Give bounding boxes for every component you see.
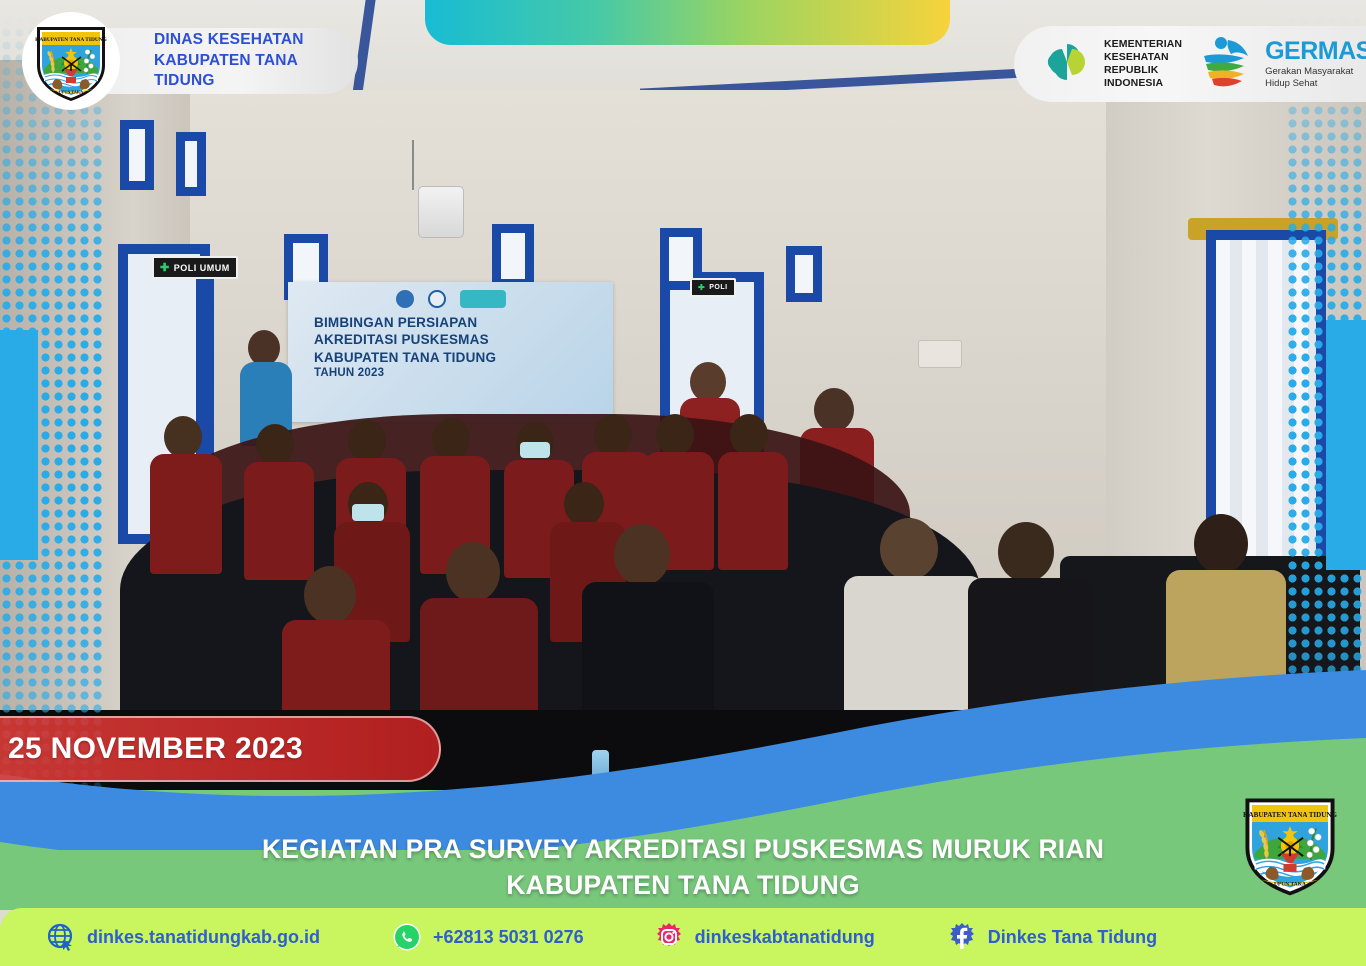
- halftone-solid-left: [0, 330, 38, 560]
- banner-line-3: KABUPATEN TANA TIDUNG: [314, 349, 613, 366]
- germas-figure-icon: [1198, 32, 1258, 97]
- room-sign-poli-umum: ✚ POLI UMUM: [152, 256, 238, 279]
- tana-tidung-coat-of-arms-icon: KABUPATEN TANA TIDUNG: [1236, 788, 1344, 898]
- headline: KEGIATAN PRA SURVEY AKREDITASI PUSKESMAS…: [0, 832, 1366, 904]
- banner-logo-icon: [428, 290, 446, 308]
- contact-footer: dinkes.tanatidungkab.go.id +62813 5031 0…: [0, 908, 1366, 966]
- kemenkes-line2: KESEHATAN: [1104, 51, 1182, 64]
- banner-logo-row: [288, 282, 613, 308]
- wall-window: [786, 246, 822, 302]
- facebook-icon: [947, 922, 977, 952]
- date-badge-label: 25 NOVEMBER 2023: [8, 732, 303, 766]
- kemenkes-line4: INDONESIA: [1104, 77, 1182, 90]
- banner-logo-icon: [396, 290, 414, 308]
- footer-instagram-text: dinkeskabtanatidung: [695, 927, 875, 948]
- room-sign-poli: ✚ POLI: [690, 278, 736, 297]
- germas-name: GERMAS: [1265, 39, 1366, 64]
- wall-wire: [412, 140, 414, 190]
- svg-text:KABUPATEN TANA TIDUNG: KABUPATEN TANA TIDUNG: [35, 37, 107, 43]
- germas-subtitle: Gerakan Masyarakat Hidup Sehat: [1265, 66, 1366, 89]
- medical-cross-icon: ✚: [698, 283, 705, 292]
- kemenkes-line1: KEMENTERIAN: [1104, 38, 1182, 51]
- top-gradient-bar: [425, 0, 950, 45]
- globe-website-icon: [46, 922, 76, 952]
- svg-text:KABUPATEN TANA TIDUNG: KABUPATEN TANA TIDUNG: [1243, 811, 1337, 819]
- wall-appliance: [418, 186, 464, 238]
- footer-facebook-text: Dinkes Tana Tidung: [988, 927, 1157, 948]
- medical-cross-icon: ✚: [160, 261, 170, 274]
- headline-line2: KABUPATEN TANA TIDUNG: [0, 868, 1366, 904]
- footer-item-website[interactable]: dinkes.tanatidungkab.go.id: [46, 922, 320, 952]
- org-title-line2: KABUPATEN TANA TIDUNG: [154, 51, 358, 93]
- halftone-solid-right: [1326, 320, 1366, 570]
- kemenkes-line3: REPUBLIK: [1104, 64, 1182, 77]
- partner-logo-plate: KEMENTERIAN KESEHATAN REPUBLIK INDONESIA…: [1014, 26, 1366, 102]
- wall-window: [492, 224, 534, 288]
- footer-whatsapp-text: +62813 5031 0276: [433, 927, 584, 948]
- event-banner: BIMBINGAN PERSIAPAN AKREDITASI PUSKESMAS…: [288, 282, 613, 422]
- footer-item-whatsapp[interactable]: +62813 5031 0276: [392, 922, 584, 952]
- org-title-line1: DINAS KESEHATAN: [154, 30, 358, 51]
- kemenkes-logo: KEMENTERIAN KESEHATAN REPUBLIK INDONESIA: [1038, 33, 1182, 96]
- footer-item-instagram[interactable]: dinkeskabtanatidung: [654, 922, 875, 952]
- tana-tidung-coat-of-arms-icon: KABUPATEN TANA TIDUNG: [22, 12, 120, 110]
- room-sign-label: POLI UMUM: [174, 263, 230, 273]
- banner-logo-icon: [460, 290, 506, 308]
- room-sign-label: POLI: [709, 284, 727, 291]
- headline-line1: KEGIATAN PRA SURVEY AKREDITASI PUSKESMAS…: [0, 832, 1366, 868]
- germas-subtitle-line1: Gerakan Masyarakat: [1265, 66, 1366, 77]
- germas-text: GERMAS Gerakan Masyarakat Hidup Sehat: [1265, 39, 1366, 89]
- banner-line-2: AKREDITASI PUSKESMAS: [314, 331, 613, 348]
- germas-subtitle-line2: Hidup Sehat: [1265, 78, 1366, 89]
- date-badge: 25 NOVEMBER 2023: [0, 716, 441, 782]
- banner-line-1: BIMBINGAN PERSIAPAN: [314, 314, 613, 331]
- wall-window: [120, 120, 154, 190]
- org-title: DINAS KESEHATAN KABUPATEN TANA TIDUNG: [154, 30, 358, 93]
- poster-root: ✚ POLI UMUM ✚ POLI BIMBINGAN PERSIAPAN A…: [0, 0, 1366, 966]
- wall-window: [176, 132, 206, 196]
- instagram-icon: [654, 922, 684, 952]
- whatsapp-icon: [392, 922, 422, 952]
- wall-socket: [918, 340, 962, 368]
- banner-line-4: TAHUN 2023: [314, 366, 613, 381]
- germas-logo: GERMAS Gerakan Masyarakat Hidup Sehat: [1198, 32, 1366, 97]
- svg-text:UPUN TAKA: UPUN TAKA: [59, 90, 83, 95]
- svg-text:UPUN TAKA: UPUN TAKA: [1274, 882, 1306, 888]
- footer-website-text: dinkes.tanatidungkab.go.id: [87, 927, 320, 948]
- banner-text: BIMBINGAN PERSIAPAN AKREDITASI PUSKESMAS…: [288, 308, 613, 381]
- kemenkes-text: KEMENTERIAN KESEHATAN REPUBLIK INDONESIA: [1104, 38, 1182, 89]
- kemenkes-clover-icon: [1038, 33, 1096, 96]
- footer-item-facebook[interactable]: Dinkes Tana Tidung: [947, 922, 1157, 952]
